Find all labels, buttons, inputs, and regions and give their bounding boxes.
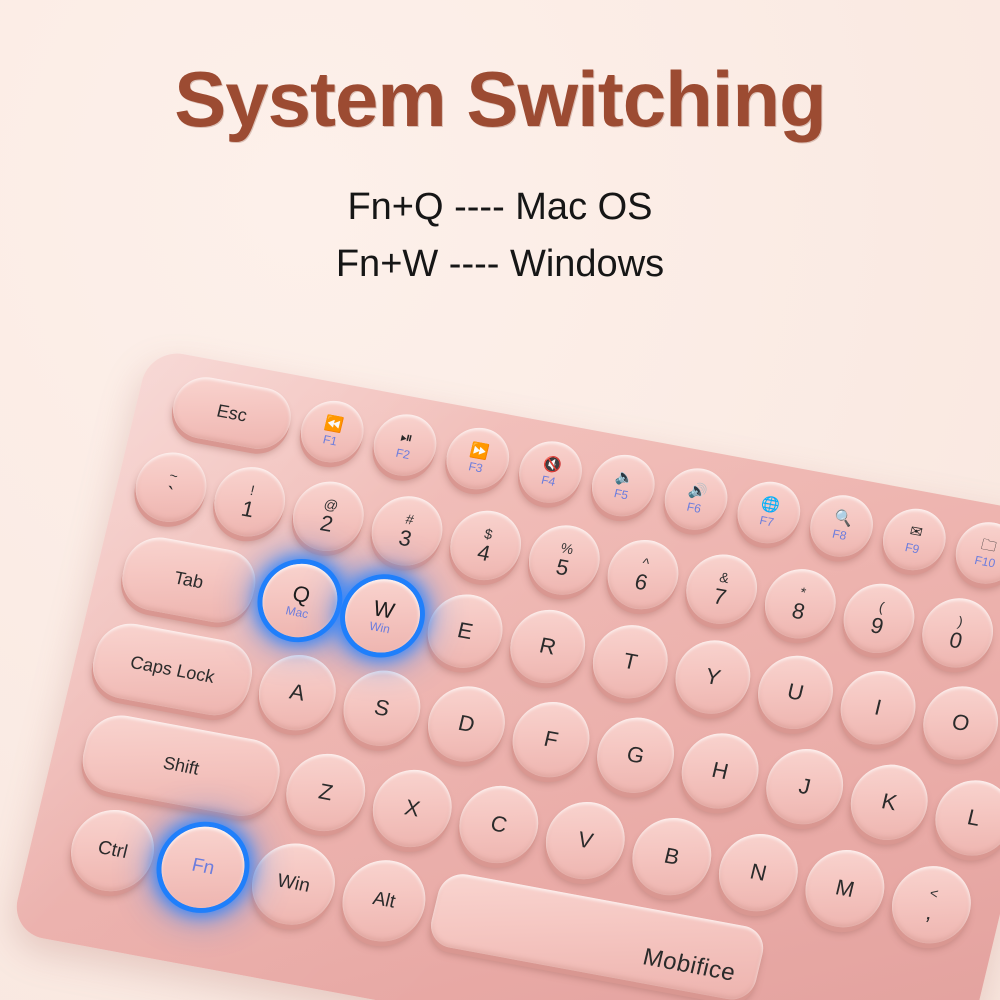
key-legend: N: [748, 860, 769, 885]
key-shift-glyph: $: [483, 526, 494, 542]
key-shift-glyph: *: [799, 584, 808, 599]
folder-icon: 🗀: [980, 537, 998, 554]
key-fn-label: F10: [973, 554, 996, 570]
key-fn-label: F1: [322, 433, 339, 448]
key-key-9[interactable]: (9: [836, 578, 921, 659]
browser-icon: 🌐: [760, 496, 782, 514]
key-f1[interactable]: ⏪F1: [295, 396, 370, 468]
fast-forward-icon: ⏩: [469, 442, 491, 460]
key-esc[interactable]: Esc: [167, 372, 298, 454]
key-tab[interactable]: Tab: [115, 532, 262, 628]
product-marketing-image: System Switching Fn+Q ---- Mac OS Fn+W -…: [0, 0, 1000, 1000]
key-shift-glyph: (: [878, 599, 886, 614]
key-legend: Esc: [215, 401, 249, 425]
key-legend: Win: [275, 871, 312, 896]
key-legend: 4: [475, 541, 492, 566]
key-caps-lock[interactable]: Caps Lock: [86, 618, 259, 721]
key-key-z[interactable]: Z: [278, 747, 373, 837]
key-fn-label: F7: [758, 514, 775, 529]
key-key-e[interactable]: E: [420, 588, 510, 674]
key-key-j[interactable]: J: [758, 743, 850, 831]
key-legend: Caps Lock: [128, 653, 216, 687]
key-legend: J: [797, 774, 813, 798]
play-pause-icon: ⏯: [399, 429, 414, 446]
key-legend: ,: [924, 901, 935, 925]
key-key-c[interactable]: C: [451, 779, 546, 869]
brand-label: Mobifice: [640, 945, 738, 987]
key-key-b[interactable]: B: [624, 812, 719, 902]
key-legend: C: [488, 812, 509, 837]
key-key-a[interactable]: A: [251, 649, 343, 737]
key-f7[interactable]: 🌐F7: [731, 477, 806, 549]
key-legend: Y: [703, 665, 723, 690]
key-fn-label: F3: [467, 460, 484, 475]
key-shift-glyph: !: [249, 483, 256, 498]
key-legend: `: [163, 483, 176, 507]
key-legend: 9: [868, 614, 885, 639]
key-ctrl[interactable]: Ctrl: [63, 803, 163, 898]
key-fn[interactable]: Fn: [153, 820, 253, 915]
key-shift[interactable]: Shift: [76, 710, 287, 822]
key-legend: Z: [316, 780, 335, 805]
key-key-8[interactable]: *8: [758, 563, 843, 644]
key-legend: S: [372, 696, 392, 721]
key-legend: 1: [239, 497, 256, 522]
key-legend: O: [950, 710, 972, 736]
key-f8[interactable]: 🔍F8: [804, 490, 879, 562]
key-key-k[interactable]: K: [843, 758, 935, 846]
key-key-w[interactable]: WWin: [337, 573, 427, 659]
volume-down-icon: 🔈: [614, 469, 636, 487]
key-key-g[interactable]: G: [589, 711, 681, 799]
key-f10[interactable]: 🗀F10: [949, 517, 1000, 589]
key-legend: 5: [554, 555, 571, 580]
key-key-4[interactable]: $4: [443, 505, 528, 586]
key-key-u[interactable]: U: [750, 650, 840, 736]
key-legend: Q: [290, 581, 312, 607]
key-legend: V: [575, 828, 595, 853]
search-icon: 🔍: [832, 509, 854, 527]
key-key-y[interactable]: Y: [668, 634, 758, 720]
key-f9[interactable]: ✉F9: [877, 504, 952, 576]
key-spacebar[interactable]: Mobifice: [426, 870, 768, 1000]
key-legend: G: [624, 743, 646, 769]
key-fn-label: F6: [686, 500, 703, 515]
key-legend: Tab: [172, 568, 205, 592]
key-key-i[interactable]: I: [833, 665, 923, 751]
key-legend: L: [965, 806, 982, 831]
key-fn-label: F5: [613, 487, 630, 502]
key-f6[interactable]: 🔊F6: [658, 463, 733, 535]
key-legend: Fn: [190, 856, 216, 879]
key-legend: 2: [318, 512, 335, 537]
key-key-d[interactable]: D: [420, 680, 512, 768]
key-fn-label: F8: [831, 527, 848, 542]
key-key-l[interactable]: L: [928, 774, 1000, 862]
key-key-1[interactable]: !1: [207, 461, 292, 542]
key-f5[interactable]: 🔈F5: [586, 450, 661, 522]
key-key-comma[interactable]: <,: [884, 860, 979, 950]
key-key-o[interactable]: O: [916, 680, 1000, 766]
rewind-icon: ⏪: [323, 415, 345, 433]
key-plate: Esc⏪F1⏯F2⏩F3🔇F4🔈F5🔊F6🌐F7🔍F8✉F9🗀F10~`!1@2…: [10, 348, 1000, 1000]
key-legend: Alt: [371, 889, 397, 912]
key-key-q[interactable]: QMac: [255, 558, 345, 644]
key-key-x[interactable]: X: [365, 763, 460, 853]
key-key-2[interactable]: @2: [286, 476, 371, 557]
key-legend: K: [879, 790, 899, 815]
key-shift-glyph: ~: [168, 468, 179, 484]
keyboard-photo: Esc⏪F1⏯F2⏩F3🔇F4🔈F5🔊F6🌐F7🔍F8✉F9🗀F10~`!1@2…: [0, 0, 1000, 1000]
key-legend: U: [785, 680, 806, 705]
key-f4[interactable]: 🔇F4: [513, 436, 588, 508]
key-legend: I: [872, 696, 883, 720]
key-legend: A: [287, 680, 307, 705]
key-legend: W: [371, 596, 397, 622]
key-shift-glyph: #: [404, 511, 415, 527]
key-f2[interactable]: ⏯F2: [367, 409, 442, 481]
key-fn-label: F9: [904, 541, 921, 556]
key-legend: R: [537, 634, 558, 659]
key-key-7[interactable]: &7: [679, 549, 764, 630]
mail-icon: ✉: [908, 523, 924, 540]
key-legend: X: [402, 796, 422, 821]
key-shift-glyph: &: [718, 569, 731, 585]
key-legend: 8: [790, 599, 807, 624]
key-key-n[interactable]: N: [711, 828, 806, 918]
key-shift-glyph: <: [928, 885, 939, 901]
key-legend: Shift: [161, 753, 201, 778]
key-legend: 7: [711, 584, 728, 609]
key-key-6[interactable]: ^6: [600, 534, 685, 615]
key-legend: Ctrl: [96, 838, 130, 863]
key-legend: D: [456, 711, 477, 736]
mute-icon: 🔇: [541, 455, 563, 473]
key-tilde[interactable]: ~`: [128, 447, 213, 528]
key-shift-glyph: ^: [641, 555, 651, 571]
key-key-r[interactable]: R: [503, 604, 593, 690]
key-key-m[interactable]: M: [797, 844, 892, 934]
key-fn-label: F4: [540, 473, 557, 488]
key-legend: 3: [396, 526, 413, 551]
key-legend: E: [455, 619, 475, 644]
key-legend: B: [662, 844, 682, 869]
key-key-v[interactable]: V: [538, 795, 633, 885]
volume-up-icon: 🔊: [687, 482, 709, 500]
key-key-5[interactable]: %5: [522, 520, 607, 601]
key-shift-glyph: ): [956, 614, 964, 629]
key-legend: 0: [947, 628, 964, 653]
key-os-sublabel: Mac: [284, 604, 309, 620]
key-legend: F: [542, 727, 561, 752]
key-legend: M: [833, 876, 856, 902]
key-key-f[interactable]: F: [505, 696, 597, 784]
key-legend: 6: [632, 570, 649, 595]
key-alt[interactable]: Alt: [334, 853, 434, 948]
key-os-sublabel: Win: [368, 620, 391, 636]
key-fn-label: F2: [395, 446, 412, 461]
key-key-s[interactable]: S: [336, 664, 428, 752]
key-key-t[interactable]: T: [585, 619, 675, 705]
key-key-3[interactable]: #3: [364, 490, 449, 571]
key-legend: T: [621, 649, 640, 674]
key-win[interactable]: Win: [244, 837, 344, 932]
key-legend: H: [710, 758, 731, 783]
key-key-h[interactable]: H: [674, 727, 766, 815]
key-f3[interactable]: ⏩F3: [440, 423, 515, 495]
key-key-0[interactable]: )0: [915, 592, 1000, 673]
